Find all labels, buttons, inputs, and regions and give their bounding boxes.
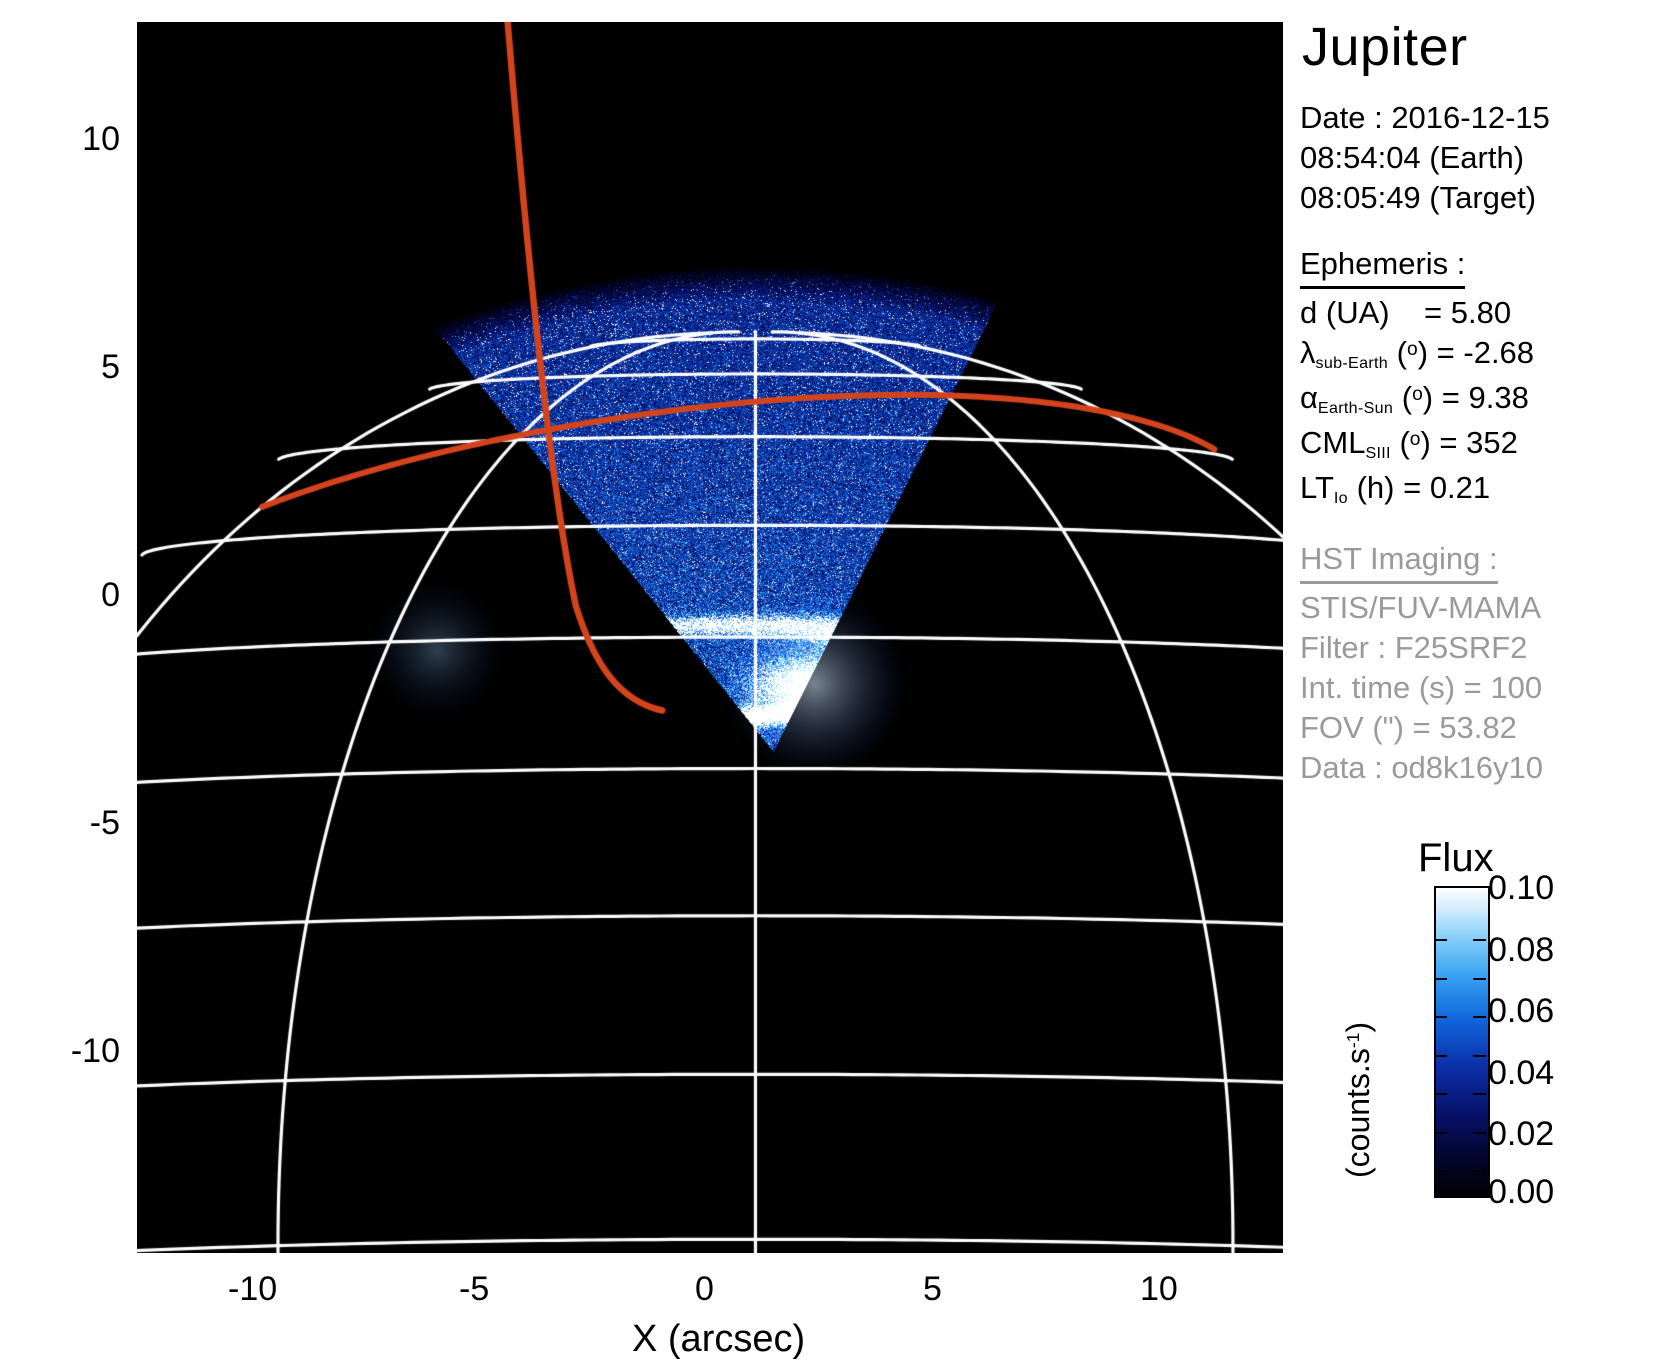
ephemeris-value: 5.80 [1451,295,1511,330]
observation-image-panel [137,22,1283,1253]
colorbar-tick-label: 0.10 [1488,871,1554,905]
observation-date: Date : 2016-12-15 [1300,98,1676,138]
ephemeris-value: 9.38 [1468,380,1528,415]
metadata-panel: Jupiter Date : 2016-12-15 08:54:04 (Eart… [1300,18,1676,788]
ephemeris-equals: = [1437,335,1455,370]
colorbar-tick-label: 0.02 [1488,1117,1554,1151]
ephemeris-row-sub-earth-longitude: λsub-Earth (o) = -2.68 [1300,333,1676,378]
y-tick-label: -5 [70,806,120,840]
imaging-dataset-id: Data : od8k16y10 [1300,748,1676,788]
ephemeris-unit: (UA) [1326,295,1390,330]
page-title: Jupiter [1302,18,1676,76]
x-tick-label: -5 [459,1272,489,1306]
ephemeris-subscript: SIII [1365,444,1390,462]
ephemeris-value: 352 [1466,425,1518,460]
ephemeris-row-cml: CMLSIII (o) = 352 [1300,423,1676,468]
x-tick-label: 0 [695,1272,714,1306]
y-tick-label: -10 [70,1034,120,1068]
colorbar-tick-label: 0.04 [1488,1056,1554,1090]
ephemeris-symbol: LT [1300,470,1334,505]
imaging-instrument: STIS/FUV-MAMA [1300,588,1676,628]
ephemeris-row-io-local-time: LTIo (h) = 0.21 [1300,468,1676,513]
ephemeris-unit: (o) [1399,425,1430,460]
ephemeris-equals: = [1403,470,1421,505]
ephemeris-unit: (o) [1402,380,1433,415]
ephemeris-symbol: d [1300,295,1317,330]
observation-time-earth: 08:54:04 (Earth) [1300,138,1676,178]
ephemeris-symbol: λ [1300,335,1316,370]
ephemeris-subscript: sub-Earth [1316,354,1389,372]
ephemeris-subscript: Io [1334,489,1348,507]
colorbar-legend: Flux 0.10 0.08 0.06 0.04 0.02 0.00 (coun… [1300,838,1676,1268]
ephemeris-row-phase-angle: αEarth-Sun (o) = 9.38 [1300,378,1676,423]
imaging-heading: HST Imaging : [1300,539,1498,584]
ephemeris-equals: = [1424,295,1442,330]
ephemeris-value: 0.21 [1430,470,1490,505]
ephemeris-subscript: Earth-Sun [1318,399,1393,417]
y-tick-label: 0 [70,578,120,612]
ephemeris-unit: (h) [1357,470,1395,505]
colorbar-tick-label: 0.00 [1488,1175,1554,1209]
colorbar-tick-label: 0.08 [1488,933,1554,967]
ephemeris-value: -2.68 [1463,335,1534,370]
imaging-filter: Filter : F25SRF2 [1300,628,1676,668]
x-tick-label: -10 [228,1272,277,1306]
jupiter-aurora-heatmap [137,22,1283,1253]
ephemeris-symbol: α [1300,380,1318,415]
colorbar-title: Flux [1418,838,1494,878]
colorbar-unit-label: (counts.s-1) [1340,1022,1377,1178]
ephemeris-symbol: CML [1300,425,1365,460]
imaging-field-of-view: FOV (") = 53.82 [1300,708,1676,748]
ephemeris-equals: = [1439,425,1457,460]
x-tick-label: 5 [923,1272,942,1306]
ephemeris-heading: Ephemeris : [1300,244,1465,289]
colorbar-tick-label: 0.06 [1488,994,1554,1028]
observation-time-target: 08:05:49 (Target) [1300,178,1676,218]
x-axis-title: X (arcsec) [632,1318,805,1361]
x-tick-label: 10 [1140,1272,1178,1306]
ephemeris-equals: = [1442,380,1460,415]
y-tick-label: 5 [70,350,120,384]
ephemeris-unit: (o) [1397,335,1428,370]
imaging-integration-time: Int. time (s) = 100 [1300,668,1676,708]
y-tick-label: 10 [70,122,120,156]
ephemeris-row-distance: d (UA) = 5.80 [1300,293,1676,333]
colorbar-gradient [1434,886,1490,1198]
